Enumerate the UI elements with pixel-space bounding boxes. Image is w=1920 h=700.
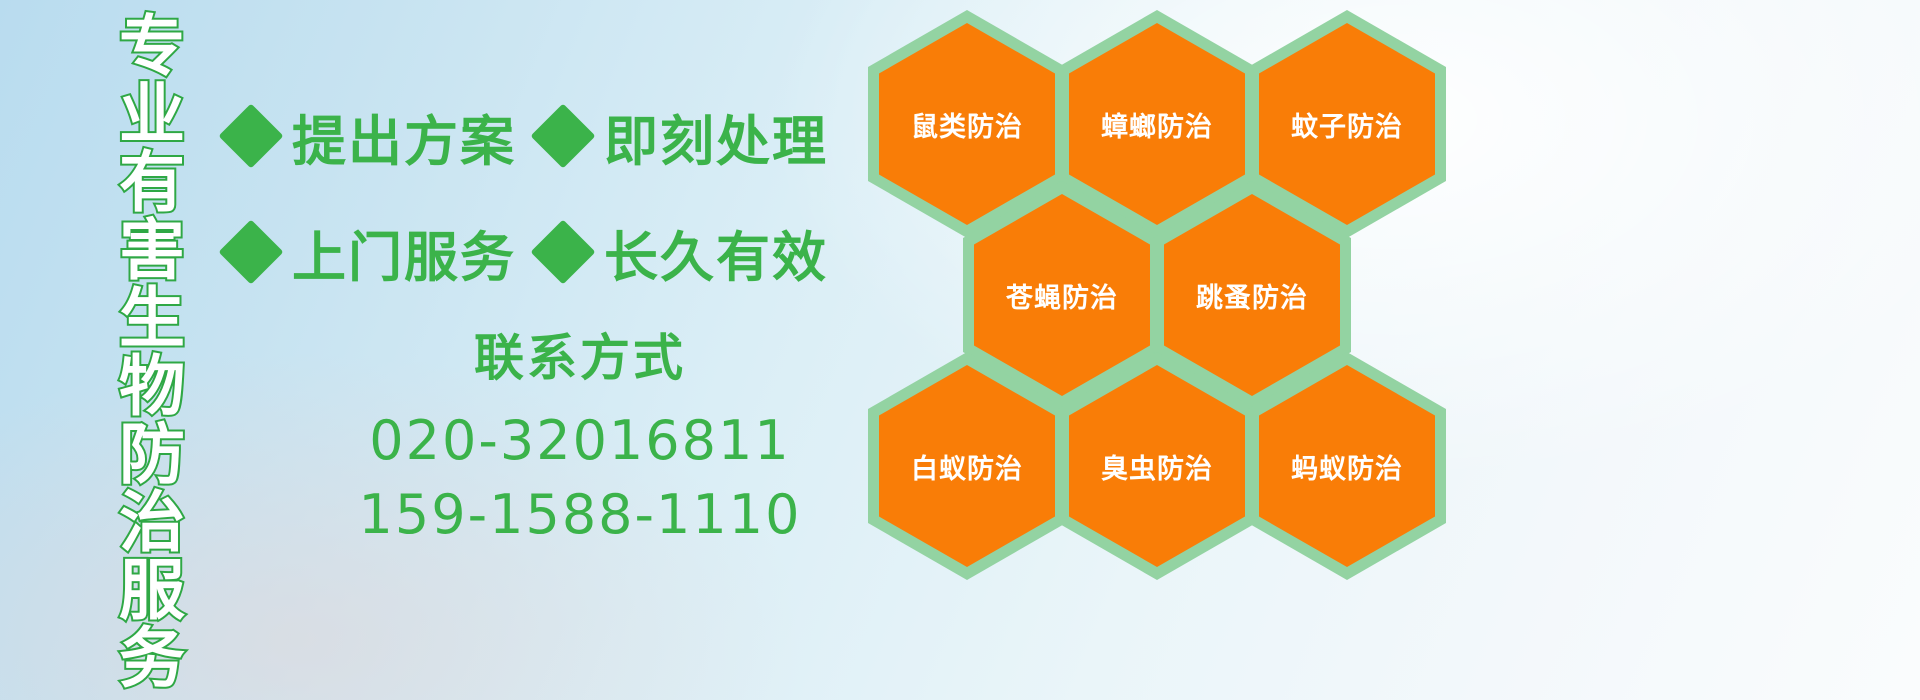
service-hex-label: 白蚁防治 (911, 447, 1023, 486)
diamond-bullet-icon (218, 219, 283, 284)
feature-row: 提出方案 即刻处理 (228, 78, 868, 194)
feature-item-propose-plan: 提出方案 (228, 97, 516, 176)
vertical-headline: 专 业 有 害 生 物 防 治 服 务 (106, 12, 198, 652)
diamond-bullet-icon (218, 103, 283, 168)
hex-inner-fill: 苍蝇防治 (974, 194, 1150, 396)
service-hex-label: 蚊子防治 (1291, 105, 1403, 144)
vertical-headline-char: 防 (119, 420, 185, 488)
feature-label: 提出方案 (292, 97, 516, 176)
feature-item-long-lasting-effect: 长久有效 (540, 213, 828, 292)
service-hex-label: 鼠类防治 (911, 105, 1023, 144)
hex-inner-fill: 鼠类防治 (879, 23, 1055, 225)
vertical-headline-char: 治 (119, 488, 185, 556)
hex-inner-fill: 蚂蚁防治 (1259, 365, 1435, 567)
service-hex-label: 蚂蚁防治 (1291, 447, 1403, 486)
service-hex-label: 苍蝇防治 (1006, 276, 1118, 315)
service-hex-label: 蟑螂防治 (1101, 105, 1213, 144)
feature-row: 上门服务 长久有效 (228, 194, 868, 310)
vertical-headline-char: 务 (119, 624, 185, 692)
hex-inner-fill: 跳蚤防治 (1164, 194, 1340, 396)
diamond-bullet-icon (530, 219, 595, 284)
feature-item-immediate-handling: 即刻处理 (540, 97, 828, 176)
vertical-headline-char: 专 (119, 12, 185, 80)
feature-label: 上门服务 (292, 213, 516, 292)
phone-number-landline[interactable]: 020-32016811 (300, 404, 860, 478)
contact-heading: 联系方式 (300, 318, 860, 390)
feature-label: 长久有效 (604, 213, 828, 292)
contact-block: 联系方式 020-32016811 159-1588-1110 (300, 318, 860, 552)
feature-item-door-to-door-service: 上门服务 (228, 213, 516, 292)
vertical-headline-char: 业 (119, 80, 185, 148)
feature-label: 即刻处理 (604, 97, 828, 176)
hex-inner-fill: 蟑螂防治 (1069, 23, 1245, 225)
vertical-headline-char: 物 (119, 352, 185, 420)
hex-inner-fill: 白蚁防治 (879, 365, 1055, 567)
service-hexagon-grid: 鼠类防治 蟑螂防治 蚊子防治 苍蝇防治 跳蚤防治 白蚁防治 (860, 0, 1920, 700)
vertical-headline-char: 害 (119, 216, 185, 284)
feature-list: 提出方案 即刻处理 上门服务 长久有效 (228, 78, 868, 310)
vertical-headline-char: 有 (119, 148, 185, 216)
hex-inner-fill: 蚊子防治 (1259, 23, 1435, 225)
diamond-bullet-icon (530, 103, 595, 168)
phone-number-mobile[interactable]: 159-1588-1110 (300, 478, 860, 552)
vertical-headline-char: 服 (119, 556, 185, 624)
service-hex-label: 臭虫防治 (1101, 447, 1213, 486)
vertical-headline-char: 生 (119, 284, 185, 352)
promo-banner: 专 业 有 害 生 物 防 治 服 务 提出方案 即刻处理 上门服务 (0, 0, 1920, 700)
hex-inner-fill: 臭虫防治 (1069, 365, 1245, 567)
service-hex-label: 跳蚤防治 (1196, 276, 1308, 315)
